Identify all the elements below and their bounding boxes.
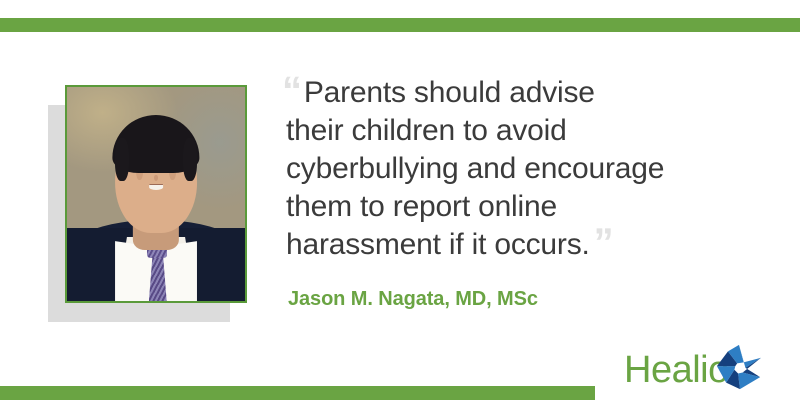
hair-side-left <box>115 138 129 181</box>
healio-logo[interactable]: Healio <box>624 348 784 396</box>
quote-line-1: Parents should advise <box>304 76 595 109</box>
quote-line-2: their children to avoid <box>286 114 567 147</box>
quote-block: “Parents should advisetheir children to … <box>286 74 756 311</box>
portrait-photo <box>67 87 245 301</box>
quote-text: “Parents should advisetheir children to … <box>286 74 756 264</box>
nose <box>154 175 158 182</box>
quote-attribution: Jason M. Nagata, MD, MSc <box>288 288 756 311</box>
hair-side-right <box>183 138 197 181</box>
portrait-frame <box>65 85 247 303</box>
quote-card: “Parents should advisetheir children to … <box>0 0 800 420</box>
bottom-green-rule <box>0 386 595 400</box>
quote-line-3: cyberbullying and encourage <box>286 152 664 185</box>
quote-line-5: harassment if it occurs. <box>286 228 590 261</box>
close-quote-icon: ” <box>594 221 614 265</box>
four-point-star-icon <box>716 344 762 390</box>
top-green-rule <box>0 18 800 32</box>
open-quote-icon: “ <box>282 69 302 113</box>
healio-wordmark: Healio <box>624 350 729 390</box>
mouth <box>149 184 163 190</box>
quote-line-4: them to report online <box>286 190 557 223</box>
